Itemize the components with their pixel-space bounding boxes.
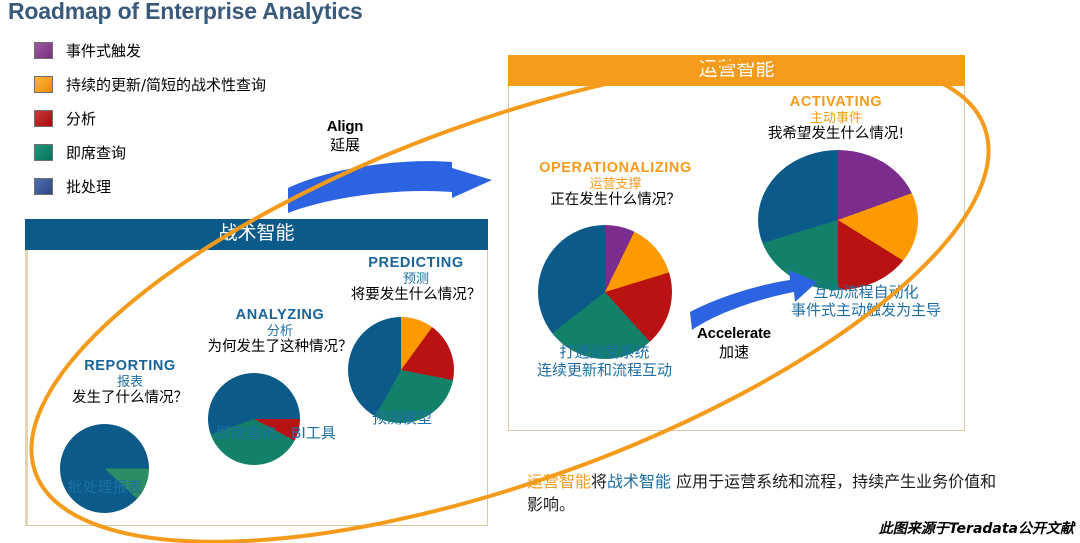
legend-label-batch: 批处理 <box>66 176 111 197</box>
source-note: 此图来源于Teradata公开文献 <box>879 518 1074 538</box>
footer-highlight-tactical: 战术智能 <box>607 472 671 491</box>
slide-canvas: Roadmap of Enterprise Analytics 事件式触发 持续… <box>0 0 1080 543</box>
stage-predicting-eng: PREDICTING <box>330 255 502 272</box>
stage-analyzing-eng: ANALYZING <box>182 307 378 324</box>
legend-swatch-event-trigger <box>34 42 53 59</box>
pie-chart-reporting <box>60 424 149 513</box>
stage-activating-eng: ACTIVATING <box>732 94 940 111</box>
stage-operationalizing-eng: OPERATIONALIZING <box>508 160 723 177</box>
pie-caption-activating: 互动流程自动化 事件式主动触发为主导 <box>766 283 966 320</box>
accelerate-arrow-label-cn: 加速 <box>682 343 786 361</box>
pie-caption-operationalizing-line2: 连续更新和流程互动 <box>502 361 707 379</box>
legend-item: 事件式触发 <box>34 33 454 67</box>
footer-mid-1: 将 <box>591 472 607 491</box>
pie-chart-predicting <box>348 317 454 423</box>
align-arrow-label-cn: 延展 <box>300 136 390 154</box>
tactical-panel-left-edge <box>25 250 28 526</box>
pie-chart-analyzing <box>208 373 300 465</box>
tactical-panel-header: 战术智能 <box>25 219 488 250</box>
operational-panel-header: 运营智能 <box>508 55 965 86</box>
stage-operationalizing: OPERATIONALIZING 运营支撑 正在发生什么情况？ <box>508 160 723 210</box>
pie-caption-operationalizing: 打通运营系统 连续更新和流程互动 <box>502 343 707 380</box>
legend-label-analysis: 分析 <box>66 108 96 129</box>
stage-analyzing: ANALYZING 分析 为何发生了这种情况？ <box>182 307 378 357</box>
stage-reporting-cn-question: 发生了什么情况？ <box>35 390 225 407</box>
footer-summary: 运营智能将战术智能 应用于运营系统和流程，持续产生业务价值和影响。 <box>527 470 997 516</box>
legend-item: 分析 <box>34 101 454 135</box>
stage-predicting-cn-sub: 预测 <box>330 272 502 287</box>
stage-reporting-eng: REPORTING <box>35 358 225 375</box>
pie-caption-predicting: 预测模型 <box>326 409 478 427</box>
footer-highlight-operational: 运营智能 <box>527 472 591 491</box>
stage-activating: ACTIVATING 主动事件 我希望发生什么情况! <box>732 94 940 144</box>
accelerate-arrow-label: Accelerate 加速 <box>682 325 786 361</box>
align-arrow-label: Align 延展 <box>300 118 390 154</box>
legend: 事件式触发 持续的更新/简短的战术性查询 分析 即席查询 批处理 <box>34 33 454 203</box>
stage-operationalizing-cn-question: 正在发生什么情况？ <box>508 192 723 209</box>
stage-analyzing-cn-question: 为何发生了这种情况？ <box>182 339 378 356</box>
legend-label-event-trigger: 事件式触发 <box>66 40 141 61</box>
legend-label-continuous-update: 持续的更新/简短的战术性查询 <box>66 74 266 95</box>
page-title: Roadmap of Enterprise Analytics <box>8 0 363 25</box>
accelerate-arrow-label-eng: Accelerate <box>682 325 786 343</box>
pie-caption-reporting: 批处理报表 <box>42 478 168 496</box>
stage-predicting-cn-question: 将要发生什么情况？ <box>330 287 502 304</box>
stage-activating-cn-sub: 主动事件 <box>732 111 940 126</box>
pie-chart-operationalizing <box>538 225 672 359</box>
pie-caption-activating-line2: 事件式主动触发为主导 <box>766 301 966 319</box>
legend-swatch-adhoc-query <box>34 144 53 161</box>
legend-item: 即席查询 <box>34 135 454 169</box>
stage-analyzing-cn-sub: 分析 <box>182 324 378 339</box>
stage-reporting: REPORTING 报表 发生了什么情况？ <box>35 358 225 408</box>
stage-operationalizing-cn-sub: 运营支撑 <box>508 177 723 192</box>
pie-chart-activating <box>758 150 918 290</box>
legend-swatch-analysis <box>34 110 53 127</box>
align-arrow-label-eng: Align <box>300 118 390 136</box>
stage-predicting: PREDICTING 预测 将要发生什么情况？ <box>330 255 502 305</box>
legend-swatch-continuous-update <box>34 76 53 93</box>
stage-activating-cn-question: 我希望发生什么情况! <box>732 126 940 143</box>
legend-item: 持续的更新/简短的战术性查询 <box>34 67 454 101</box>
pie-caption-operationalizing-line1: 打通运营系统 <box>502 343 707 361</box>
legend-item: 批处理 <box>34 169 454 203</box>
pie-caption-activating-line1: 互动流程自动化 <box>766 283 966 301</box>
stage-reporting-cn-sub: 报表 <box>35 375 225 390</box>
legend-label-adhoc-query: 即席查询 <box>66 142 126 163</box>
legend-swatch-batch <box>34 178 53 195</box>
